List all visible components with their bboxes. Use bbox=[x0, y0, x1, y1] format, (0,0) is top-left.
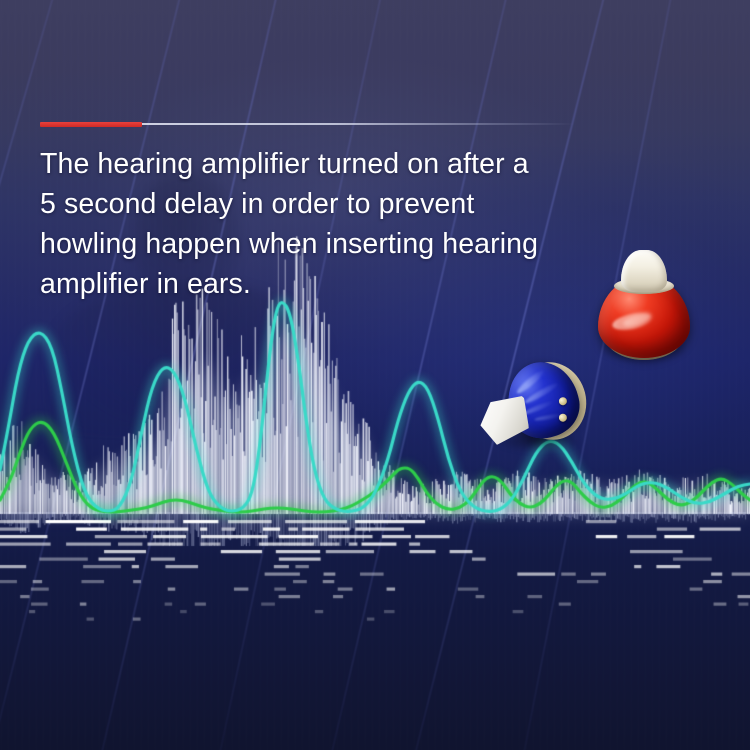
product-banner: The hearing amplifier turned on after a … bbox=[0, 0, 750, 750]
blue-device-port-1 bbox=[558, 396, 568, 406]
red-hearing-amplifier bbox=[588, 248, 700, 366]
red-device-ear-tip bbox=[621, 250, 667, 292]
blue-hearing-amplifier bbox=[478, 356, 590, 460]
headline-block: The hearing amplifier turned on after a … bbox=[40, 122, 600, 304]
blue-device-port-2 bbox=[558, 413, 568, 423]
red-device-highlight bbox=[621, 310, 653, 331]
headline-text: The hearing amplifier turned on after a … bbox=[40, 144, 600, 304]
audio-waveform-visualization bbox=[0, 0, 750, 750]
rule-line-red bbox=[40, 122, 142, 127]
accent-rule bbox=[40, 122, 575, 126]
